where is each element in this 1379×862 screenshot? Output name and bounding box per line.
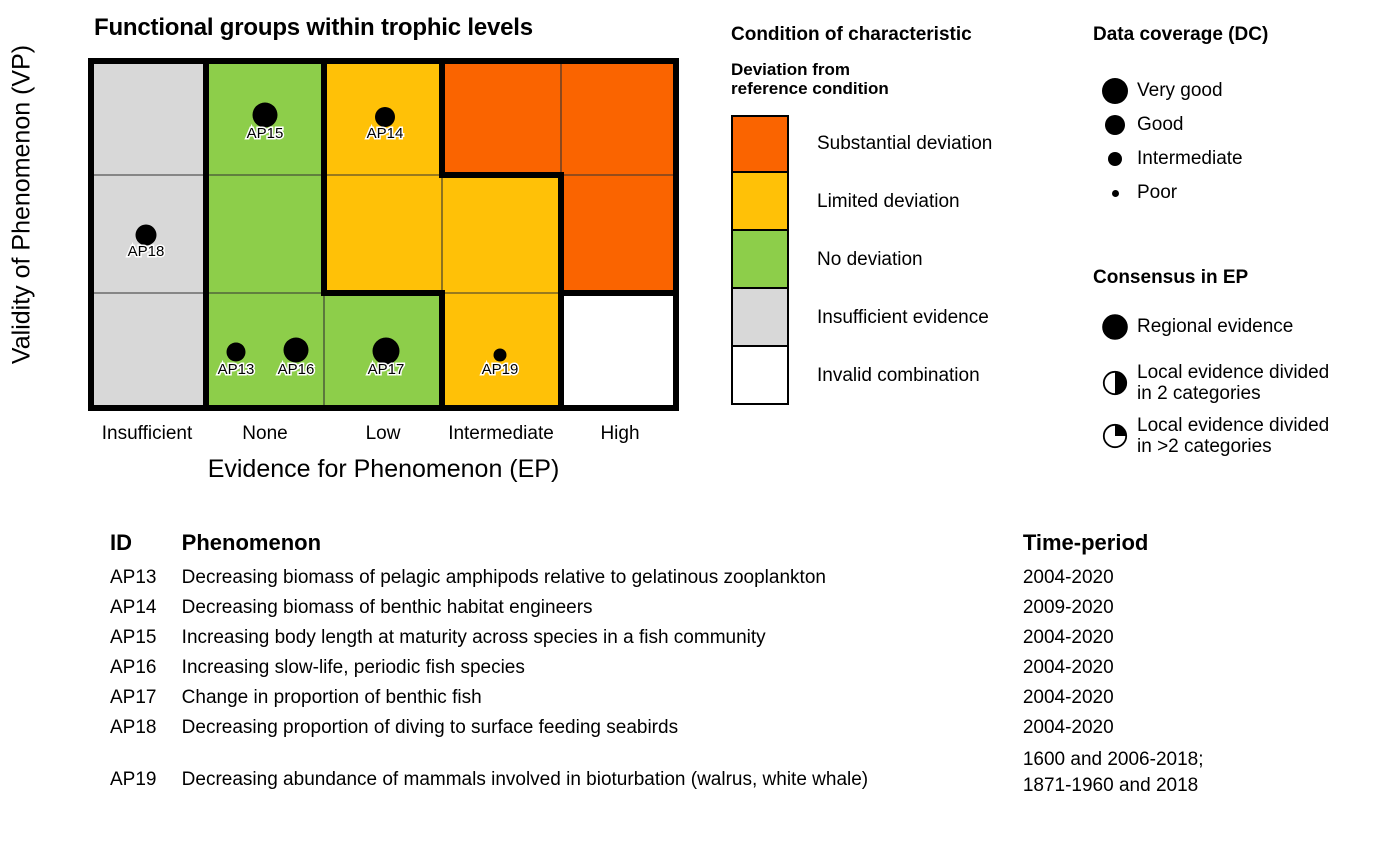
dc-dot-very-good-slot bbox=[1093, 78, 1137, 104]
table-row[interactable]: AP18 Decreasing proportion of diving to … bbox=[110, 713, 1270, 743]
consensus-label-divided-2: Local evidence dividedin 2 categories bbox=[1137, 362, 1329, 405]
circle-good-icon bbox=[1105, 115, 1125, 135]
consensus-label-regional: Regional evidence bbox=[1137, 316, 1293, 337]
consensus-items: Regional evidence Local evidence divided… bbox=[1093, 314, 1329, 467]
cell-time-period: 2004-2020 bbox=[1023, 623, 1270, 653]
cell-high-insufficient bbox=[88, 58, 206, 175]
table-row[interactable]: AP17 Change in proportion of benthic fis… bbox=[110, 683, 1270, 713]
legend-item-insufficient-evidence[interactable]: Insufficient evidence bbox=[731, 289, 992, 347]
swatch-limited bbox=[731, 173, 789, 231]
cell-time-period: 2004-2020 bbox=[1023, 683, 1270, 713]
consensus-icon-slot-divided-many bbox=[1093, 423, 1137, 449]
header-phenomenon: Phenomenon bbox=[182, 530, 1023, 563]
table-row[interactable]: AP13 Decreasing biomass of pelagic amphi… bbox=[110, 563, 1270, 593]
full-circle-icon bbox=[1102, 314, 1128, 340]
circle-intermediate-icon bbox=[1108, 152, 1122, 166]
swatch-label-none: No deviation bbox=[817, 249, 923, 271]
consensus-legend: Consensus in EP Regional evidence Local … bbox=[1093, 267, 1379, 289]
svg-text:AP16: AP16 bbox=[278, 361, 315, 378]
dc-label-good: Good bbox=[1137, 114, 1183, 136]
swatch-substantial bbox=[731, 115, 789, 173]
dc-item-intermediate[interactable]: Intermediate bbox=[1093, 142, 1243, 176]
svg-text:AP13: AP13 bbox=[218, 361, 255, 378]
x-axis-title: Evidence for Phenomenon (EP) bbox=[88, 455, 679, 484]
table-row[interactable]: AP19 Decreasing abundance of mammals inv… bbox=[110, 743, 1270, 802]
swatch-label-limited: Limited deviation bbox=[817, 191, 960, 213]
svg-text:AP14: AP14 bbox=[367, 125, 404, 142]
x-tick-high: High bbox=[561, 423, 679, 445]
legend-item-substantial-deviation[interactable]: Substantial deviation bbox=[731, 115, 992, 173]
dc-dot-intermediate-slot bbox=[1093, 152, 1137, 166]
dc-dot-good-slot bbox=[1093, 115, 1137, 135]
circle-poor-icon bbox=[1112, 190, 1119, 197]
condition-swatch-list: Substantial deviation Limited deviation … bbox=[731, 115, 992, 405]
cell-time-period: 2004-2020 bbox=[1023, 713, 1270, 743]
cell-id: AP14 bbox=[110, 593, 182, 623]
consensus-icon-slot-divided-2 bbox=[1093, 370, 1137, 396]
table-row[interactable]: AP15 Increasing body length at maturity … bbox=[110, 623, 1270, 653]
cell-low-high bbox=[561, 293, 679, 411]
legend-item-no-deviation[interactable]: No deviation bbox=[731, 231, 992, 289]
svg-text:AP15: AP15 bbox=[247, 125, 284, 142]
x-tick-none: None bbox=[206, 423, 324, 445]
data-coverage-items: Very good Good Intermediate Poor bbox=[1093, 74, 1243, 210]
phenomenon-table: ID Phenomenon Time-period AP13 Decreasin… bbox=[110, 530, 1270, 802]
dc-label-poor: Poor bbox=[1137, 182, 1177, 204]
svg-text:AP19: AP19 bbox=[482, 361, 519, 378]
half-circle-icon bbox=[1102, 370, 1128, 396]
cell-phenomenon: Decreasing biomass of benthic habitat en… bbox=[182, 593, 1023, 623]
cell-time-period: 2004-2020 bbox=[1023, 563, 1270, 593]
cell-time-period: 2004-2020 bbox=[1023, 653, 1270, 683]
dc-item-poor[interactable]: Poor bbox=[1093, 176, 1243, 210]
quarter-circle-icon bbox=[1102, 423, 1128, 449]
swatch-invalid bbox=[731, 347, 789, 405]
swatch-label-invalid: Invalid combination bbox=[817, 365, 980, 387]
cell-id: AP19 bbox=[110, 743, 182, 802]
legend-item-invalid-combination[interactable]: Invalid combination bbox=[731, 347, 992, 405]
x-tick-insufficient: Insufficient bbox=[88, 423, 206, 445]
consensus-item-divided-many[interactable]: Local evidence dividedin >2 categories bbox=[1093, 415, 1329, 458]
cell-phenomenon: Increasing slow-life, periodic fish spec… bbox=[182, 653, 1023, 683]
swatch-label-substantial: Substantial deviation bbox=[817, 133, 992, 155]
header-time-period: Time-period bbox=[1023, 530, 1270, 563]
dc-item-good[interactable]: Good bbox=[1093, 108, 1243, 142]
cell-int-low bbox=[324, 175, 442, 293]
dc-label-very-good: Very good bbox=[1137, 80, 1223, 102]
cell-id: AP13 bbox=[110, 563, 182, 593]
table-row[interactable]: AP16 Increasing slow-life, periodic fish… bbox=[110, 653, 1270, 683]
legend-item-limited-deviation[interactable]: Limited deviation bbox=[731, 173, 992, 231]
consensus-item-regional[interactable]: Regional evidence bbox=[1093, 314, 1329, 340]
svg-text:AP17: AP17 bbox=[368, 361, 405, 378]
cell-id: AP17 bbox=[110, 683, 182, 713]
svg-text:AP18: AP18 bbox=[128, 243, 165, 260]
cell-phenomenon: Decreasing proportion of diving to surfa… bbox=[182, 713, 1023, 743]
consensus-icon-slot-regional bbox=[1093, 314, 1137, 340]
x-tick-intermediate: Intermediate bbox=[442, 423, 560, 445]
cell-phenomenon: Increasing body length at maturity acros… bbox=[182, 623, 1023, 653]
table-row[interactable]: AP14 Decreasing biomass of benthic habit… bbox=[110, 593, 1270, 623]
page-title: Functional groups within trophic levels bbox=[94, 14, 533, 42]
x-tick-low: Low bbox=[324, 423, 442, 445]
cell-id: AP16 bbox=[110, 653, 182, 683]
consensus-item-divided-2[interactable]: Local evidence dividedin 2 categories bbox=[1093, 362, 1329, 405]
circle-very-good-icon bbox=[1102, 78, 1128, 104]
cell-high-high bbox=[561, 58, 679, 175]
cell-time-period: 1600 and 2006-2018;1871-1960 and 2018 bbox=[1023, 743, 1270, 802]
cell-time-period: 2009-2020 bbox=[1023, 593, 1270, 623]
cell-low-insufficient bbox=[88, 293, 206, 411]
cell-int-intermediate bbox=[442, 175, 561, 293]
data-coverage-legend-title: Data coverage (DC) bbox=[1093, 24, 1379, 46]
cell-int-high bbox=[561, 175, 679, 293]
data-coverage-legend: Data coverage (DC) Very good Good Interm… bbox=[1093, 24, 1379, 46]
swatch-insufficient bbox=[731, 289, 789, 347]
consensus-legend-title: Consensus in EP bbox=[1093, 267, 1379, 289]
heatmap-matrix: AP15 AP14 AP18 AP13 AP16 AP17 bbox=[88, 58, 679, 411]
consensus-label-divided-many: Local evidence dividedin >2 categories bbox=[1137, 415, 1329, 458]
header-id: ID bbox=[110, 530, 182, 563]
condition-legend-title: Condition of characteristic bbox=[731, 24, 1031, 46]
cell-high-intermediate bbox=[442, 58, 561, 175]
cell-int-none bbox=[206, 175, 324, 293]
cell-phenomenon: Decreasing biomass of pelagic amphipods … bbox=[182, 563, 1023, 593]
dc-dot-poor-slot bbox=[1093, 190, 1137, 197]
condition-legend-subtitle: Deviation fromreference condition bbox=[731, 60, 1031, 98]
cell-phenomenon: Decreasing abundance of mammals involved… bbox=[182, 743, 1023, 802]
swatch-none bbox=[731, 231, 789, 289]
table-header-row: ID Phenomenon Time-period bbox=[110, 530, 1270, 563]
cell-id: AP15 bbox=[110, 623, 182, 653]
cell-phenomenon: Change in proportion of benthic fish bbox=[182, 683, 1023, 713]
cell-id: AP18 bbox=[110, 713, 182, 743]
dc-item-very-good[interactable]: Very good bbox=[1093, 74, 1243, 108]
swatch-label-insufficient: Insufficient evidence bbox=[817, 307, 989, 329]
y-axis-title: Validity of Phenomenon (VP) bbox=[8, 5, 37, 405]
dc-label-intermediate: Intermediate bbox=[1137, 148, 1243, 170]
condition-legend: Condition of characteristic Deviation fr… bbox=[731, 24, 1031, 98]
